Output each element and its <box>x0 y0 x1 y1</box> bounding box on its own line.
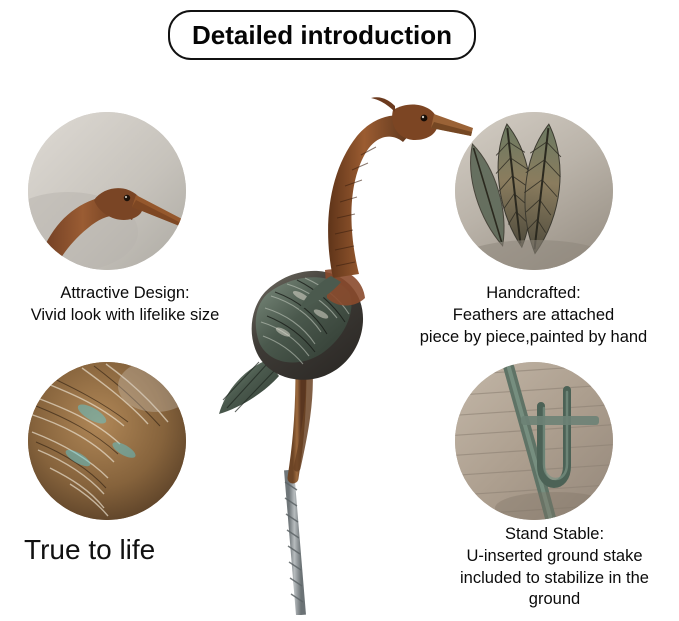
stake-rod <box>285 470 303 615</box>
caption-attractive-design: Attractive Design: Vivid look with lifel… <box>0 283 250 327</box>
metal-feathers-closeup-icon <box>455 112 613 270</box>
heron-head-closeup-icon <box>28 112 186 270</box>
feature-image-stand-stable <box>455 362 613 520</box>
page-title: Detailed introduction <box>192 20 452 51</box>
feature-image-true-to-life <box>28 362 186 520</box>
u-shaped-ground-stake-closeup-icon <box>455 362 613 520</box>
heron-legs <box>293 366 309 478</box>
caption-stand-stable: Stand Stable: U-inserted ground stake in… <box>430 524 679 611</box>
caption-handcrafted: Handcrafted: Feathers are attached piece… <box>388 283 679 348</box>
feature-image-handcrafted <box>455 112 613 270</box>
heron-neck <box>328 115 419 278</box>
caption-true-to-life: True to life <box>24 534 254 566</box>
feature-image-attractive-design <box>28 112 186 270</box>
rusty-feathered-body-closeup-icon <box>28 362 186 520</box>
title-banner: Detailed introduction <box>168 10 476 60</box>
